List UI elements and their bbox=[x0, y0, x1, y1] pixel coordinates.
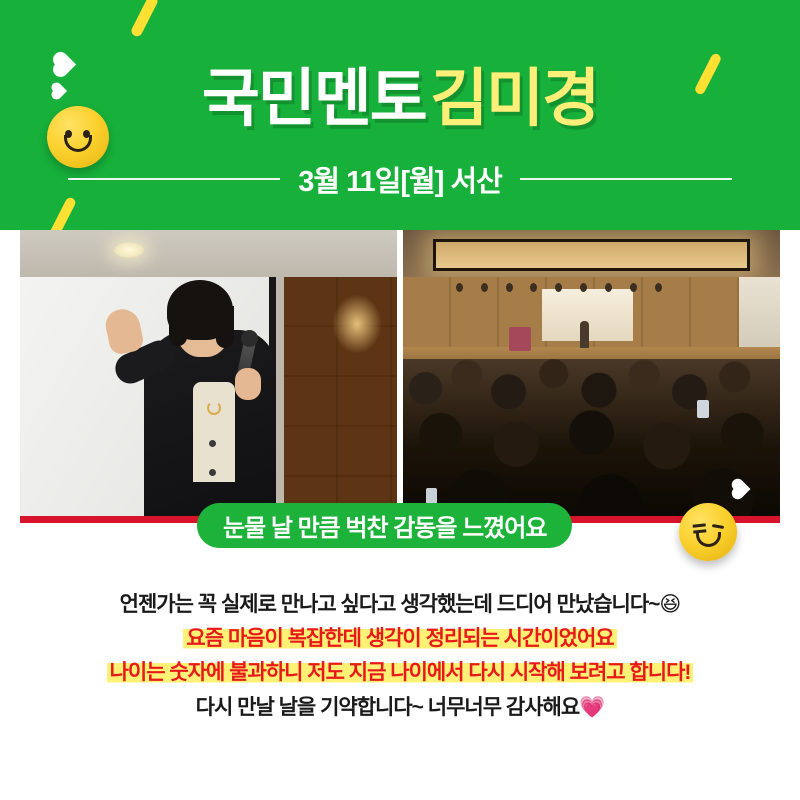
photo-gallery bbox=[20, 230, 780, 523]
suit-button bbox=[209, 469, 216, 476]
photo-ceiling bbox=[20, 230, 397, 280]
caption-pill: 눈물 날 만큼 벅찬 감동을 느꼈어요 bbox=[197, 503, 572, 548]
testimonial-text: 언젠가는 꼭 실제로 만나고 싶다고 생각했는데 드디어 만났습니다~😆 요즘 … bbox=[0, 588, 800, 726]
speaker-necklace bbox=[207, 401, 221, 415]
emoji-eye-wink bbox=[712, 524, 724, 529]
audience-phone bbox=[697, 400, 709, 418]
speaker-hair bbox=[169, 306, 187, 346]
header-banner: 국민멘토 김미경 3월 11일[월] 서산 bbox=[0, 0, 800, 230]
testimonial-line: 나이는 숫자에 불과하니 저도 지금 나이에서 다시 시작해 보려고 합니다! bbox=[0, 656, 800, 690]
winking-face-emoji-icon bbox=[679, 503, 737, 561]
speaker-blouse bbox=[193, 382, 234, 482]
stage-podium bbox=[509, 327, 531, 351]
emoji-mouth bbox=[696, 532, 721, 547]
yellow-diagonal-stroke-icon bbox=[130, 0, 160, 38]
testimonial-line: 다시 만날 날을 기약합니다~ 너무너무 감사해요💗 bbox=[0, 690, 800, 726]
yellow-diagonal-stroke-icon bbox=[49, 196, 77, 230]
testimonial-line-text: 나이는 숫자에 불과하니 저도 지금 나이에서 다시 시작해 보려고 합니다! bbox=[107, 661, 694, 684]
testimonial-line: 언젠가는 꼭 실제로 만나고 싶다고 생각했는데 드디어 만났습니다~😆 bbox=[0, 588, 800, 622]
title-part-white: 국민멘토 bbox=[202, 64, 426, 134]
testimonial-line-text: 다시 만날 날을 기약합니다~ 너무너무 감사해요 bbox=[196, 696, 580, 719]
speaker-hair bbox=[216, 306, 234, 348]
event-date-location: 3월 11일[월] 서산 bbox=[298, 158, 502, 200]
divider-right bbox=[520, 178, 732, 180]
audience-phone bbox=[426, 488, 437, 504]
growing-heart-emoji-icon: 💗 bbox=[579, 696, 604, 719]
ceiling-coffer-light bbox=[433, 239, 750, 271]
microphone-head bbox=[241, 330, 258, 347]
grinning-squinting-face-emoji-icon: 😆 bbox=[659, 593, 680, 616]
ceiling-light bbox=[114, 242, 144, 258]
promo-card: 국민멘토 김미경 3월 11일[월] 서산 bbox=[0, 0, 800, 800]
speaker-photo bbox=[20, 230, 397, 523]
page-title: 국민멘토 김미경 bbox=[0, 48, 800, 139]
audience-crowd bbox=[403, 359, 780, 523]
divider-left bbox=[68, 178, 280, 180]
speaker-mic-hand bbox=[235, 368, 261, 400]
stage-speaker-figure bbox=[580, 321, 589, 348]
testimonial-line: 요즘 마음이 복잡한데 생각이 정리되는 시간이었어요 bbox=[0, 622, 800, 656]
testimonial-line-text: 요즘 마음이 복잡한데 생각이 정리되는 시간이었어요 bbox=[183, 627, 616, 650]
testimonial-line-text: 언젠가는 꼭 실제로 만나고 싶다고 생각했는데 드디어 만났습니다~ bbox=[120, 593, 660, 616]
audience-photo bbox=[403, 230, 780, 523]
suit-button bbox=[209, 440, 216, 447]
wall-glow bbox=[332, 294, 382, 354]
stage-spotlights bbox=[456, 283, 682, 293]
title-part-yellow: 김미경 bbox=[430, 64, 598, 134]
subtitle-row: 3월 11일[월] 서산 bbox=[0, 158, 800, 200]
